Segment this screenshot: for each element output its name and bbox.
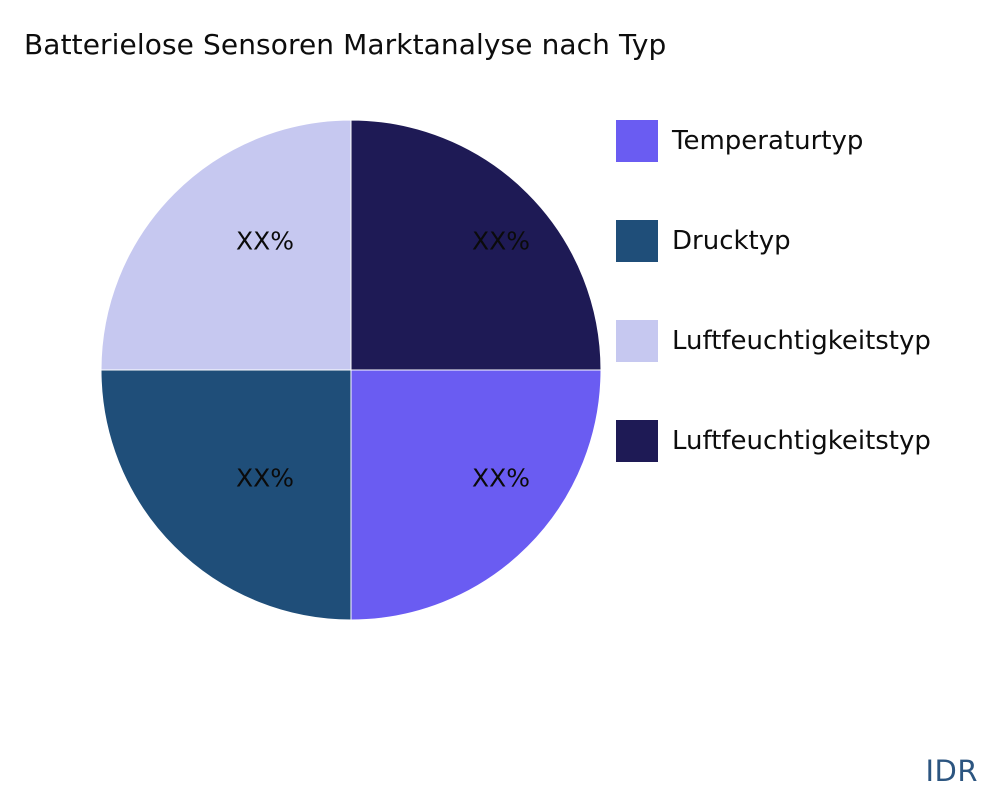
legend-item-label: Luftfeuchtigkeitstyp xyxy=(672,320,931,362)
legend-item-temperaturtyp[interactable]: Temperaturtyp xyxy=(616,120,996,162)
pie-chart-svg xyxy=(100,118,602,624)
page-title: Batterielose Sensoren Marktanalyse nach … xyxy=(24,28,666,62)
pie-slice-top-right[interactable] xyxy=(351,120,601,370)
chart-page: Batterielose Sensoren Marktanalyse nach … xyxy=(0,0,1000,800)
legend-swatch-icon xyxy=(616,320,658,362)
chart-legend: Temperaturtyp Drucktyp Luftfeuchtigkeits… xyxy=(616,120,996,520)
pie-slice-top-left[interactable] xyxy=(101,120,351,370)
pie-slice-bottom-right[interactable] xyxy=(351,370,601,620)
pie-slice-bottom-left[interactable] xyxy=(101,370,351,620)
legend-item-drucktyp[interactable]: Drucktyp xyxy=(616,220,996,262)
watermark-idr: IDR xyxy=(925,754,978,788)
legend-swatch-icon xyxy=(616,220,658,262)
legend-swatch-icon xyxy=(616,420,658,462)
legend-item-label: Luftfeuchtigkeitstyp xyxy=(672,420,931,462)
legend-item-label: Drucktyp xyxy=(672,220,791,262)
pie-chart: XX% XX% XX% XX% xyxy=(100,118,602,624)
legend-item-luftfeuchtigkeitstyp-dark[interactable]: Luftfeuchtigkeitstyp xyxy=(616,420,996,462)
legend-item-luftfeuchtigkeitstyp-light[interactable]: Luftfeuchtigkeitstyp xyxy=(616,320,996,362)
legend-swatch-icon xyxy=(616,120,658,162)
legend-item-label: Temperaturtyp xyxy=(672,120,863,162)
